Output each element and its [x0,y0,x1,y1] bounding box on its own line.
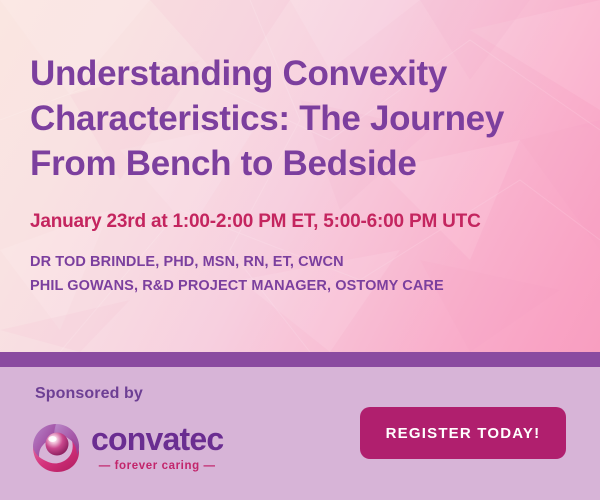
speaker-line: Phil Gowans, R&D Project Manager, Ostomy… [30,275,580,298]
logo-text-group: convatec — forever caring — [91,423,223,473]
convatec-tagline: — forever caring — [99,461,216,473]
speaker-line: Dr Tod Brindle, PhD, MSN, RN, ET, CWCN [30,251,580,274]
sponsored-by-label: Sponsored by [35,385,143,403]
webinar-promo-banner: Understanding Convexity Characteristics:… [0,0,600,500]
section-divider [0,352,600,367]
event-datetime: January 23rd at 1:00-2:00 PM ET, 5:00-6:… [30,186,580,233]
hero-section: Understanding Convexity Characteristics:… [0,0,600,352]
sponsor-logo: convatec — forever caring — [30,422,223,474]
convatec-swirl-logo-icon [30,422,82,474]
register-today-button[interactable]: REGISTER TODAY! [360,407,566,459]
page-title: Understanding Convexity Characteristics:… [30,0,550,186]
hero-content: Understanding Convexity Characteristics:… [30,0,580,298]
speaker-list: Dr Tod Brindle, PhD, MSN, RN, ET, CWCN P… [30,233,580,298]
convatec-wordmark: convatec [91,423,223,455]
